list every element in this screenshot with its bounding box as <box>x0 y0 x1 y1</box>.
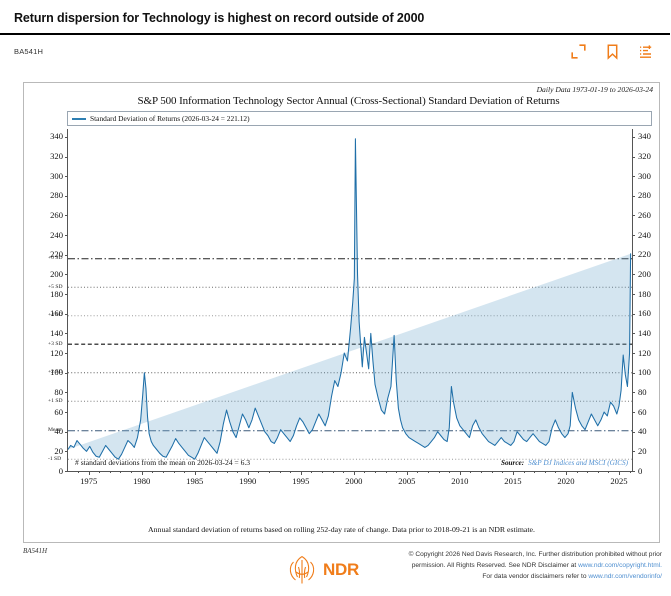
copyright-line-2-text: permission. All Rights Reserved. See NDR… <box>412 562 577 569</box>
y-axis-tick-mark <box>65 451 68 452</box>
y-axis-tick-label: 140 <box>50 329 63 338</box>
expand-icon[interactable] <box>570 43 587 60</box>
chart-title: S&P 500 Information Technology Sector An… <box>24 95 659 107</box>
x-axis-tick-label: 1995 <box>292 476 309 486</box>
y-axis-tick-mark <box>65 137 68 138</box>
chart-caption: Annual standard deviation of returns bas… <box>24 525 659 534</box>
chart-code-label: BA541H <box>14 47 43 56</box>
x-axis-minor-tick <box>174 471 175 473</box>
subheader-bar: BA541H <box>0 35 671 67</box>
y-axis-tick-mark <box>65 255 68 256</box>
y-axis-tick-mark <box>632 235 635 236</box>
x-axis-tick-mark <box>460 471 461 475</box>
y-axis-tick-label: 300 <box>638 172 651 181</box>
x-axis-tick-label: 2020 <box>557 476 574 486</box>
x-axis-minor-tick <box>110 471 111 473</box>
x-axis-minor-tick <box>184 471 185 473</box>
y-axis-tick-label: 20 <box>54 447 63 456</box>
x-axis-minor-tick <box>449 471 450 473</box>
x-axis-minor-tick <box>577 471 578 473</box>
y-axis-tick-label: 20 <box>638 447 647 456</box>
ndr-logo: NDR <box>285 555 359 585</box>
y-axis-tick-label: 200 <box>50 270 63 279</box>
y-axis-tick-mark <box>65 274 68 275</box>
x-axis-minor-tick <box>587 471 588 473</box>
x-axis-minor-tick <box>502 471 503 473</box>
x-axis-minor-tick <box>333 471 334 473</box>
x-axis-minor-tick <box>280 471 281 473</box>
y-axis-tick-label: 260 <box>50 211 63 220</box>
y-axis-tick-mark <box>632 392 635 393</box>
y-axis-tick-mark <box>632 333 635 334</box>
x-axis-minor-tick <box>428 471 429 473</box>
y-axis-tick-label: 340 <box>638 132 651 141</box>
add-to-list-icon[interactable] <box>638 43 655 60</box>
x-axis-minor-tick <box>524 471 525 473</box>
y-axis-tick-label: 320 <box>50 152 63 161</box>
y-axis-tick-mark <box>65 196 68 197</box>
y-axis-tick-mark <box>632 196 635 197</box>
x-axis-tick-label: 2000 <box>345 476 362 486</box>
x-axis-tick-mark <box>566 471 567 475</box>
x-axis-tick-mark <box>142 471 143 475</box>
x-axis-tick-label: 2025 <box>610 476 627 486</box>
x-axis-tick-mark <box>513 471 514 475</box>
y-axis-tick-label: 140 <box>638 329 651 338</box>
y-axis-tick-mark <box>632 294 635 295</box>
legend-color-swatch <box>72 118 86 120</box>
ndr-logo-mark <box>285 555 319 585</box>
x-axis-tick-mark <box>195 471 196 475</box>
y-axis-tick-mark <box>632 451 635 452</box>
x-axis-tick-label: 1975 <box>80 476 97 486</box>
x-axis-minor-tick <box>534 471 535 473</box>
y-axis-tick-mark <box>65 235 68 236</box>
y-axis-tick-label: 40 <box>54 427 63 436</box>
x-axis-minor-tick <box>163 471 164 473</box>
x-axis-minor-tick <box>269 471 270 473</box>
x-axis-minor-tick <box>322 471 323 473</box>
y-axis-tick-mark <box>65 176 68 177</box>
x-axis-minor-tick <box>216 471 217 473</box>
x-axis-tick-label: 1985 <box>186 476 203 486</box>
x-axis-minor-tick <box>598 471 599 473</box>
x-axis-tick-mark <box>407 471 408 475</box>
x-axis-tick-label: 2010 <box>451 476 468 486</box>
y-axis-tick-label: 80 <box>638 388 647 397</box>
copyright-block: © Copyright 2026 Ned Davis Research, Inc… <box>362 550 662 583</box>
y-axis-tick-mark <box>65 412 68 413</box>
legend-series-label: Standard Deviation of Returns (2026-03-2… <box>90 114 250 123</box>
y-axis-tick-label: 180 <box>50 290 63 299</box>
y-axis-tick-mark <box>632 432 635 433</box>
y-axis-tick-mark <box>65 353 68 354</box>
y-axis-tick-mark <box>65 294 68 295</box>
y-axis-tick-mark <box>632 157 635 158</box>
y-axis-tick-label: 60 <box>54 408 63 417</box>
x-axis-minor-tick <box>470 471 471 473</box>
y-axis-tick-mark <box>65 471 68 472</box>
y-axis-tick-mark <box>632 353 635 354</box>
copyright-line-3: For data vendor disclaimers refer to www… <box>362 572 662 583</box>
y-axis-tick-mark <box>65 157 68 158</box>
x-axis-minor-tick <box>608 471 609 473</box>
x-axis-minor-tick <box>152 471 153 473</box>
y-axis-tick-label: 120 <box>50 349 63 358</box>
x-axis-minor-tick <box>492 471 493 473</box>
plot-svg <box>68 129 632 471</box>
x-axis-tick-label: 2005 <box>398 476 415 486</box>
y-axis-tick-label: 60 <box>638 408 647 417</box>
copyright-line-2: permission. All Rights Reserved. See NDR… <box>362 561 662 572</box>
y-axis-tick-mark <box>632 137 635 138</box>
chart-frame: Daily Data 1973-01-19 to 2026-03-24 S&P … <box>23 82 660 543</box>
x-axis-minor-tick <box>205 471 206 473</box>
x-axis-minor-tick <box>555 471 556 473</box>
x-axis-tick-mark <box>354 471 355 475</box>
y-axis-tick-mark <box>65 392 68 393</box>
sd-line-label: +3 SD <box>48 342 63 348</box>
y-axis-tick-mark <box>632 176 635 177</box>
y-axis-tick-label: 200 <box>638 270 651 279</box>
y-axis-tick-label: 40 <box>638 427 647 436</box>
y-axis-tick-label: 120 <box>638 349 651 358</box>
y-axis-tick-label: 280 <box>50 191 63 200</box>
x-axis-minor-tick <box>120 471 121 473</box>
y-axis-tick-label: 100 <box>50 368 63 377</box>
chart-date-range: Daily Data 1973-01-19 to 2026-03-24 <box>537 85 653 94</box>
plot-source: Source:S&P DJ Indices and MSCI (GICS) <box>501 459 628 467</box>
y-axis-tick-label: 240 <box>50 231 63 240</box>
x-axis-minor-tick <box>237 471 238 473</box>
x-axis-minor-tick <box>258 471 259 473</box>
sd-line-label: +1 SD <box>48 399 63 405</box>
x-axis-minor-tick <box>290 471 291 473</box>
y-axis-tick-label: 280 <box>638 191 651 200</box>
source-value: S&P DJ Indices and MSCI (GICS) <box>528 459 628 467</box>
x-axis-minor-tick <box>227 471 228 473</box>
y-axis-tick-label: 240 <box>638 231 651 240</box>
x-axis-minor-tick <box>417 471 418 473</box>
x-axis-minor-tick <box>99 471 100 473</box>
x-axis-minor-tick <box>364 471 365 473</box>
y-axis-tick-label: 0 <box>59 467 63 476</box>
x-axis-minor-tick <box>386 471 387 473</box>
ndr-logo-text: NDR <box>323 560 359 580</box>
vendorinfo-link[interactable]: www.ndr.com/vendorinfo/ <box>588 573 662 580</box>
x-axis-tick-label: 1980 <box>133 476 150 486</box>
x-axis-minor-tick <box>343 471 344 473</box>
plot-area[interactable]: # standard deviations from the mean on 2… <box>67 129 633 472</box>
y-axis-tick-mark <box>632 471 635 472</box>
x-axis-minor-tick <box>375 471 376 473</box>
footer: BA541H NDR © Copyright 2026 Ned Davis Re… <box>0 545 671 596</box>
toolbar <box>570 43 661 60</box>
x-axis-minor-tick <box>78 471 79 473</box>
x-axis-minor-tick <box>311 471 312 473</box>
x-axis-tick-mark <box>89 471 90 475</box>
plot-annotation: # standard deviations from the mean on 2… <box>75 458 250 467</box>
copyright-line-3-text: For data vendor disclaimers refer to <box>482 573 586 580</box>
y-axis-tick-mark <box>65 314 68 315</box>
x-axis-tick-mark <box>619 471 620 475</box>
y-axis-tick-mark <box>632 373 635 374</box>
y-axis-tick-mark <box>65 215 68 216</box>
y-axis-tick-label: 220 <box>50 250 63 259</box>
footer-chart-code: BA541H <box>23 547 47 555</box>
y-axis-tick-label: 0 <box>638 467 642 476</box>
x-axis-minor-tick <box>545 471 546 473</box>
sd-line-label: -1 SD <box>48 457 61 463</box>
copyright-line-1: © Copyright 2026 Ned Davis Research, Inc… <box>362 550 662 561</box>
y-axis-tick-label: 260 <box>638 211 651 220</box>
x-axis-minor-tick <box>630 471 631 473</box>
page-title: Return dispersion for Technology is high… <box>0 0 671 33</box>
y-axis-tick-label: 220 <box>638 250 651 259</box>
y-axis-tick-mark <box>632 274 635 275</box>
y-axis-tick-label: 180 <box>638 290 651 299</box>
chart-legend: Standard Deviation of Returns (2026-03-2… <box>67 111 652 126</box>
y-axis-tick-mark <box>632 314 635 315</box>
y-axis-tick-label: 80 <box>54 388 63 397</box>
y-axis-tick-label: 300 <box>50 172 63 181</box>
x-axis-tick-mark <box>301 471 302 475</box>
y-axis-tick-label: 320 <box>638 152 651 161</box>
y-axis-tick-mark <box>632 412 635 413</box>
bookmark-icon[interactable] <box>604 43 621 60</box>
y-axis-tick-label: 160 <box>638 309 651 318</box>
y-axis-tick-mark <box>632 255 635 256</box>
x-axis-tick-label: 2015 <box>504 476 521 486</box>
x-axis-tick-label: 1990 <box>239 476 256 486</box>
x-axis-minor-tick <box>396 471 397 473</box>
y-axis-tick-label: 100 <box>638 368 651 377</box>
x-axis-minor-tick <box>439 471 440 473</box>
x-axis-minor-tick <box>481 471 482 473</box>
source-label: Source: <box>501 459 524 467</box>
x-axis-minor-tick <box>131 471 132 473</box>
y-axis-tick-mark <box>632 215 635 216</box>
y-axis-tick-mark <box>65 373 68 374</box>
y-axis-tick-label: 340 <box>50 132 63 141</box>
y-axis-tick-label: 160 <box>50 309 63 318</box>
y-axis-tick-mark <box>65 432 68 433</box>
y-axis-tick-mark <box>65 333 68 334</box>
copyright-link[interactable]: www.ndr.com/copyright.html. <box>578 562 662 569</box>
x-axis-tick-mark <box>248 471 249 475</box>
